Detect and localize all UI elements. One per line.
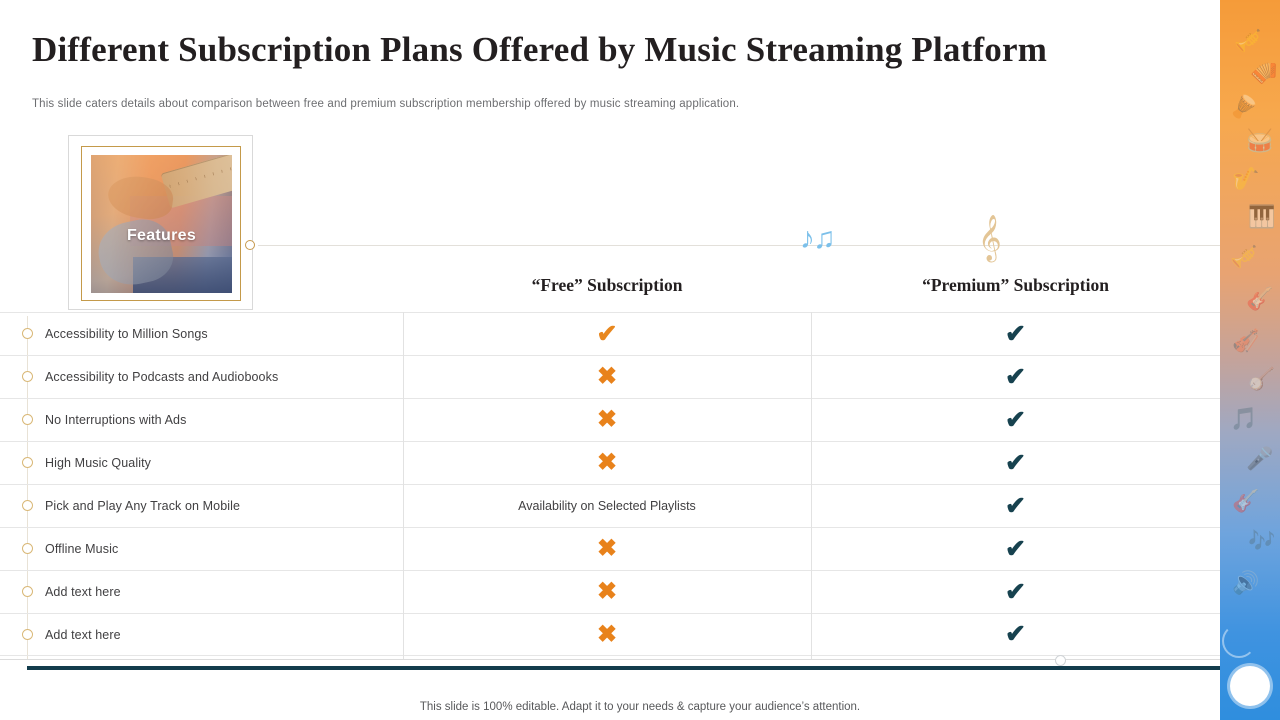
free-plan-cell: Availability on Selected Playlists	[403, 485, 811, 527]
table-row: Add text here✖✔	[0, 613, 1220, 656]
table-row: Offline Music✖✔	[0, 527, 1220, 570]
check-icon: ✔	[1005, 580, 1026, 605]
cross-icon: ✖	[597, 623, 617, 647]
check-icon: ✔	[1005, 408, 1026, 433]
premium-plan-cell: ✔	[811, 571, 1220, 613]
free-plan-value-text: Availability on Selected Playlists	[518, 499, 696, 513]
comparison-table: Accessibility to Million Songs✔✔Accessib…	[0, 312, 1220, 656]
table-bottom-rule	[0, 659, 1220, 660]
instrument-icon: 🔊	[1232, 572, 1259, 594]
slide-root: Different Subscription Plans Offered by …	[0, 0, 1280, 720]
feature-label: Add text here	[0, 628, 403, 642]
table-row: Pick and Play Any Track on MobileAvailab…	[0, 484, 1220, 527]
column-header-free: “Free” Subscription	[403, 275, 811, 296]
rail-dot	[22, 543, 33, 554]
connector-dot-left	[245, 240, 255, 250]
free-plan-cell: ✖	[403, 571, 811, 613]
sidebar-badge-circle	[1230, 666, 1270, 706]
instrument-icon: 🎺	[1230, 246, 1257, 268]
feature-label: Offline Music	[0, 542, 403, 556]
premium-plan-cell: ✔	[811, 528, 1220, 570]
cross-icon: ✖	[597, 365, 617, 389]
check-icon: ✔	[1005, 622, 1026, 647]
table-row: Accessibility to Million Songs✔✔	[0, 312, 1220, 355]
table-row: No Interruptions with Ads✖✔	[0, 398, 1220, 441]
free-plan-cell: ✖	[403, 614, 811, 655]
music-notes-icon: ♪♫	[800, 224, 834, 254]
rail-dot	[22, 586, 33, 597]
instrument-icon: 🪘	[1230, 96, 1257, 118]
table-row: High Music Quality✖✔	[0, 441, 1220, 484]
instrument-icon: 🥁	[1246, 130, 1273, 152]
free-plan-cell: ✖	[403, 356, 811, 398]
instrument-icon: 🎷	[1232, 168, 1259, 190]
connector-dot-right	[1055, 655, 1066, 666]
rail-dot	[22, 414, 33, 425]
rail-dot	[22, 371, 33, 382]
feature-label: High Music Quality	[0, 456, 403, 470]
instrument-icon: 🎻	[1232, 330, 1259, 352]
check-icon: ✔	[1005, 322, 1026, 347]
free-plan-cell: ✖	[403, 528, 811, 570]
check-icon: ✔	[597, 322, 618, 347]
premium-plan-cell: ✔	[811, 356, 1220, 398]
rail-dot	[22, 328, 33, 339]
check-icon: ✔	[1005, 494, 1026, 519]
cross-icon: ✖	[597, 580, 617, 604]
features-card-frame: Features	[81, 146, 241, 301]
instrument-icon: 🎤	[1246, 448, 1273, 470]
instrument-icon: 🎵	[1230, 408, 1257, 430]
premium-plan-cell: ✔	[811, 614, 1220, 655]
instrument-icon: 🎸	[1246, 288, 1273, 310]
premium-plan-cell: ✔	[811, 399, 1220, 441]
features-label: Features	[91, 227, 232, 245]
instrument-icon: 🎹	[1248, 206, 1275, 228]
cross-icon: ✖	[597, 451, 617, 475]
check-icon: ✔	[1005, 451, 1026, 476]
rail-dot	[22, 500, 33, 511]
footer-note: This slide is 100% editable. Adapt it to…	[0, 701, 1280, 713]
table-vertical-separator-2	[811, 312, 812, 659]
features-card: Features	[68, 135, 253, 310]
guitar-photo: Features	[91, 155, 232, 293]
table-row: Accessibility to Podcasts and Audiobooks…	[0, 355, 1220, 398]
feature-label: Accessibility to Podcasts and Audiobooks	[0, 370, 403, 384]
instrument-icon: 🎺	[1234, 30, 1261, 52]
feature-label: No Interruptions with Ads	[0, 413, 403, 427]
free-plan-cell: ✔	[403, 313, 811, 355]
page-subtitle: This slide caters details about comparis…	[32, 98, 1032, 110]
treble-clef-icon: 𝄞	[978, 218, 1002, 258]
cross-icon: ✖	[597, 537, 617, 561]
connector-line	[258, 245, 1220, 246]
free-plan-cell: ✖	[403, 442, 811, 484]
sound-wave-icon	[1222, 624, 1256, 658]
premium-plan-cell: ✔	[811, 485, 1220, 527]
check-icon: ✔	[1005, 365, 1026, 390]
check-icon: ✔	[1005, 537, 1026, 562]
feature-label: Pick and Play Any Track on Mobile	[0, 499, 403, 513]
instrument-icon: 🎸	[1232, 490, 1259, 512]
table-vertical-separator-1	[403, 312, 404, 659]
instrument-icon: 🪕	[1248, 368, 1275, 390]
table-row: Add text here✖✔	[0, 570, 1220, 613]
decorative-sidebar: 🔊🎶🎸🎤🎵🪕🎻🎸🎺🎹🎷🥁🪘🪗🎺	[1220, 0, 1280, 720]
premium-plan-cell: ✔	[811, 313, 1220, 355]
instrument-icon: 🎶	[1248, 530, 1275, 552]
feature-label: Add text here	[0, 585, 403, 599]
instrument-icon: 🪗	[1250, 62, 1277, 84]
feature-label: Accessibility to Million Songs	[0, 327, 403, 341]
premium-plan-cell: ✔	[811, 442, 1220, 484]
column-header-premium: “Premium” Subscription	[811, 275, 1220, 296]
page-title: Different Subscription Plans Offered by …	[32, 30, 1152, 70]
rail-dot	[22, 629, 33, 640]
rail-dot	[22, 457, 33, 468]
free-plan-cell: ✖	[403, 399, 811, 441]
accent-bar	[27, 666, 1220, 670]
cross-icon: ✖	[597, 408, 617, 432]
